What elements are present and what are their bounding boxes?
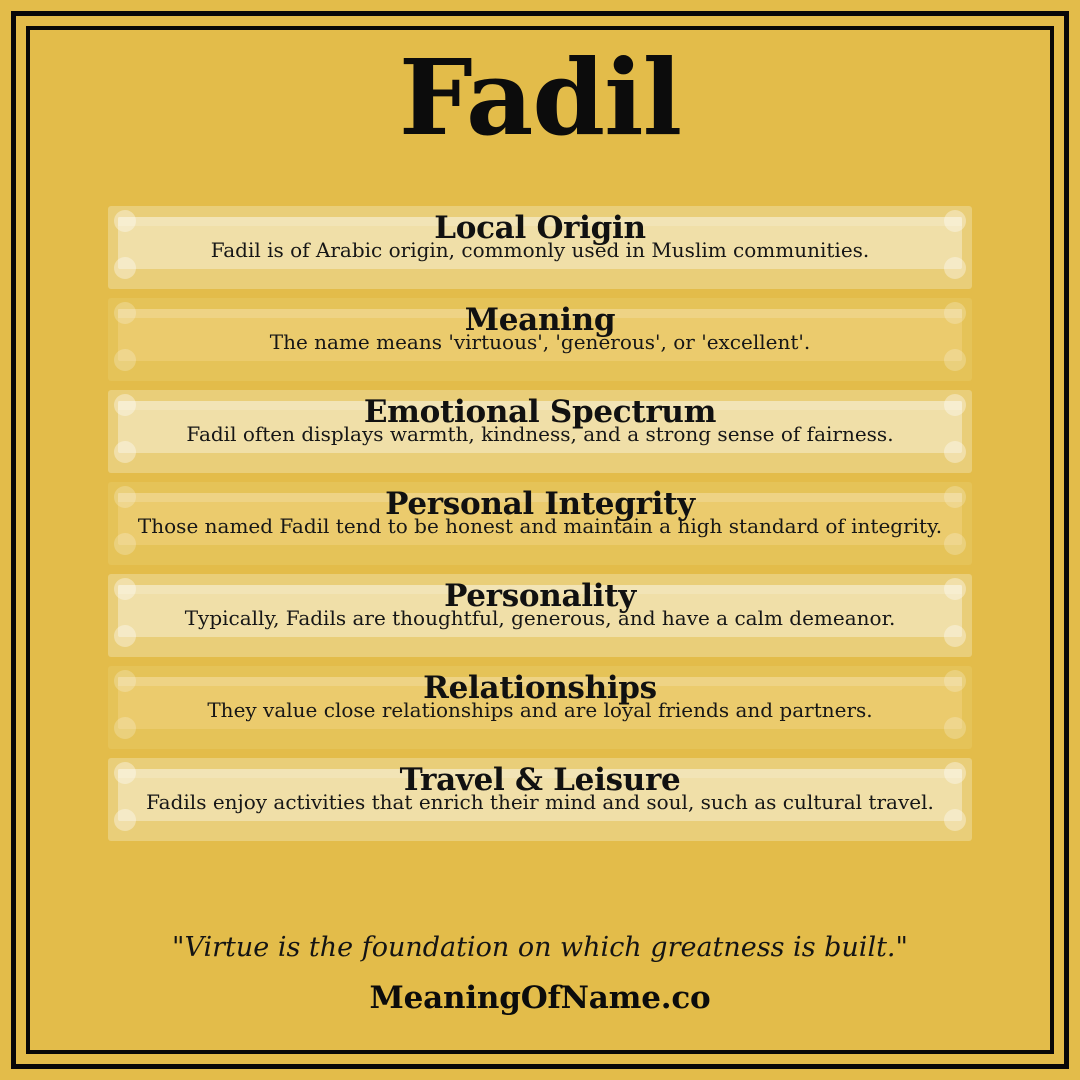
attribute-card: PersonalityTypically, Fadils are thought… <box>108 574 972 657</box>
attribute-card: Personal IntegrityThose named Fadil tend… <box>108 482 972 565</box>
card-text: Travel & LeisureFadils enjoy activities … <box>126 763 954 813</box>
attribute-card: MeaningThe name means 'virtuous', 'gener… <box>108 298 972 381</box>
card-text: RelationshipsThey value close relationsh… <box>126 671 954 721</box>
footer-quote: "Virtue is the foundation on which great… <box>0 932 1080 963</box>
card-text: PersonalityTypically, Fadils are thought… <box>126 579 954 629</box>
attribute-card: Emotional SpectrumFadil often displays w… <box>108 390 972 473</box>
attribute-card: Local OriginFadil is of Arabic origin, c… <box>108 206 972 289</box>
page-title: Fadil <box>0 37 1080 160</box>
card-description: They value close relationships and are l… <box>126 699 954 721</box>
card-description: Fadil often displays warmth, kindness, a… <box>126 423 954 445</box>
attribute-card: Travel & LeisureFadils enjoy activities … <box>108 758 972 841</box>
card-text: Emotional SpectrumFadil often displays w… <box>126 395 954 445</box>
card-description: Fadil is of Arabic origin, commonly used… <box>126 239 954 261</box>
card-text: MeaningThe name means 'virtuous', 'gener… <box>126 303 954 353</box>
card-description: Typically, Fadils are thoughtful, genero… <box>126 607 954 629</box>
attribute-card-list: Local OriginFadil is of Arabic origin, c… <box>108 206 972 850</box>
card-description: Fadils enjoy activities that enrich thei… <box>126 791 954 813</box>
card-description: The name means 'virtuous', 'generous', o… <box>126 331 954 353</box>
attribute-card: RelationshipsThey value close relationsh… <box>108 666 972 749</box>
card-text: Local OriginFadil is of Arabic origin, c… <box>126 211 954 261</box>
brand-name: MeaningOfName.co <box>0 980 1080 1016</box>
card-text: Personal IntegrityThose named Fadil tend… <box>126 487 954 537</box>
name-meaning-poster: Fadil Local OriginFadil is of Arabic ori… <box>0 0 1080 1080</box>
card-description: Those named Fadil tend to be honest and … <box>126 515 954 537</box>
